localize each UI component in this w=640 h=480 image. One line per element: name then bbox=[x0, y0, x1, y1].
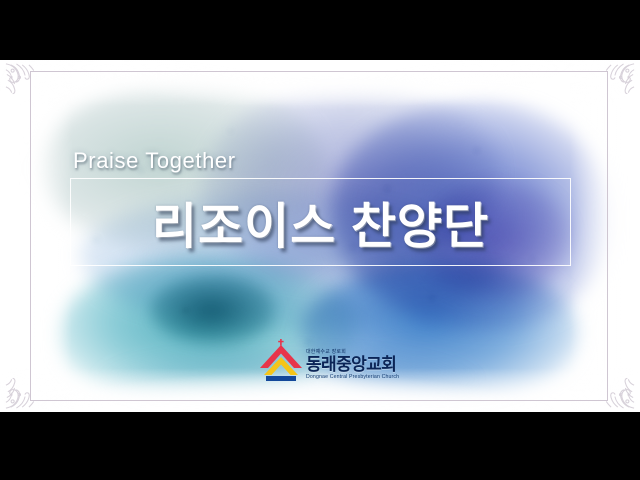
letterbox-bar-top bbox=[0, 0, 640, 60]
corner-filigree-ornament-icon bbox=[4, 364, 50, 410]
church-logo-text: 대한예수교 장로회 동래중앙교회 Dongnae Central Presbyt… bbox=[306, 350, 399, 382]
corner-filigree-ornament-icon bbox=[590, 364, 636, 410]
slide-subtitle: Praise Together bbox=[73, 148, 236, 174]
church-name-korean: 동래중앙교회 bbox=[306, 356, 396, 373]
corner-filigree-ornament-icon bbox=[590, 62, 636, 108]
church-logo: 대한예수교 장로회 동래중앙교회 Dongnae Central Presbyt… bbox=[258, 332, 408, 382]
wash-blob-deep-teal bbox=[150, 275, 275, 345]
church-roof-logo-icon bbox=[258, 338, 304, 382]
church-name-english: Dongnae Central Presbyterian Church bbox=[306, 375, 399, 380]
corner-filigree-ornament-icon bbox=[4, 62, 50, 108]
page-title: 리조이스 찬양단 bbox=[70, 178, 571, 266]
video-frame: Praise Together 리조이스 찬양단 bbox=[0, 0, 640, 480]
wash-blob-teal bbox=[58, 255, 358, 405]
letterbox-bar-bottom bbox=[0, 412, 640, 480]
slide-canvas: Praise Together 리조이스 찬양단 bbox=[0, 60, 640, 412]
